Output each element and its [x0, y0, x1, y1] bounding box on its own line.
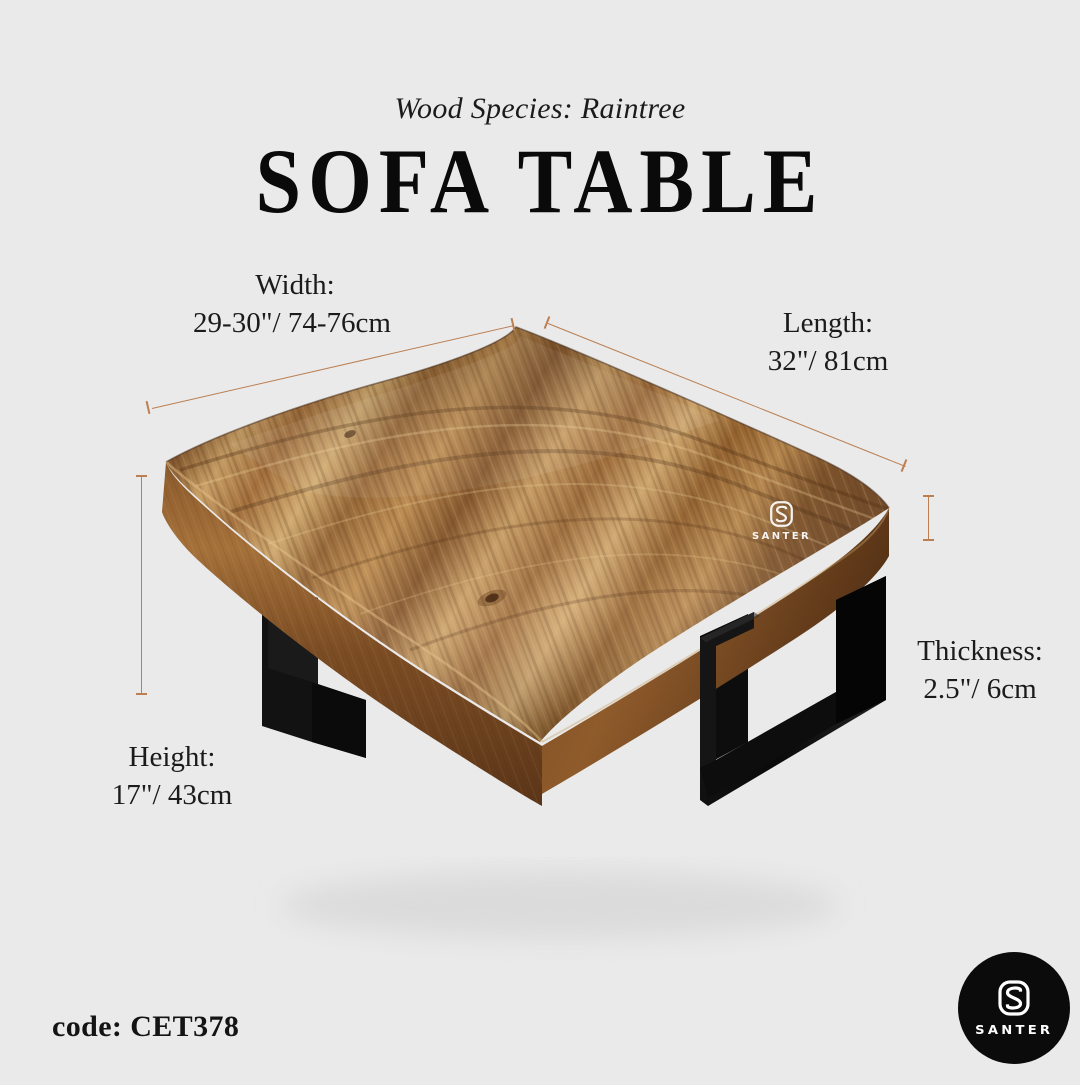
product-code: code: CET378: [52, 1010, 239, 1044]
length-label-key: Length:: [718, 304, 938, 342]
product-image: [0, 0, 1080, 1080]
length-dimension-label: Length: 32"/ 81cm: [718, 304, 938, 381]
brand-wordmark: SANTER: [975, 1022, 1053, 1037]
santer-s-monogram-icon: [997, 979, 1031, 1017]
thickness-measure-cap-bottom: [923, 539, 934, 541]
spec-sheet-canvas: Wood Species: Raintree SOFA TABLE: [0, 0, 1080, 1080]
height-measure-line: [141, 476, 142, 694]
thickness-label-value: 2.5"/ 6cm: [880, 670, 1080, 708]
width-label-key: Width:: [148, 266, 442, 304]
length-label-value: 32"/ 81cm: [718, 342, 938, 380]
height-dimension-label: Height: 17"/ 43cm: [62, 738, 282, 815]
width-dimension-label: Width: 29-30"/ 74-76cm: [142, 266, 442, 343]
brand-logo-badge[interactable]: SANTER: [958, 952, 1070, 1064]
height-label-value: 17"/ 43cm: [62, 776, 282, 814]
width-label-value: 29-30"/ 74-76cm: [142, 304, 442, 342]
thickness-label-key: Thickness:: [880, 632, 1080, 670]
thickness-dimension-label: Thickness: 2.5"/ 6cm: [880, 632, 1080, 709]
height-measure-cap-bottom: [136, 693, 147, 695]
thickness-measure-line: [928, 496, 929, 540]
height-label-key: Height:: [62, 738, 282, 776]
thickness-measure-cap-top: [923, 495, 934, 497]
height-measure-cap-top: [136, 475, 147, 477]
